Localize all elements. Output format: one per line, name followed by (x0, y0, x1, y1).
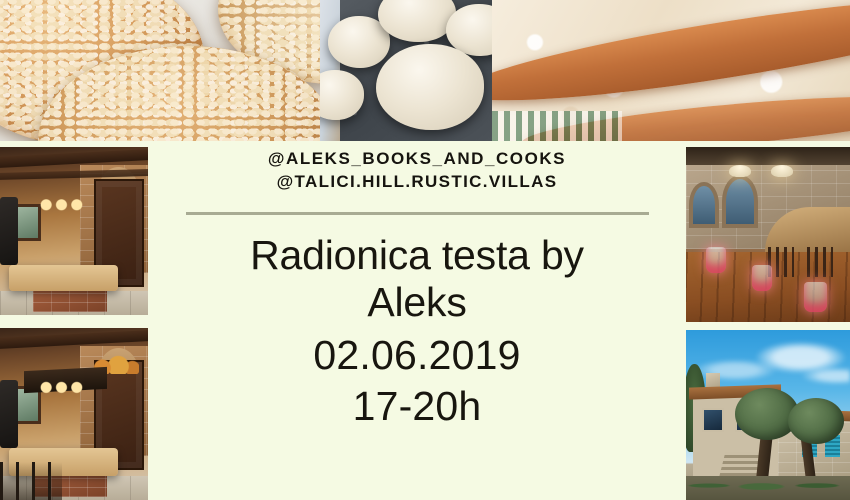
candle-jar (804, 282, 827, 312)
event-title: Radionica testa by Aleks (158, 232, 676, 327)
hedge (686, 476, 850, 500)
chair (807, 247, 833, 277)
photo-raw-dough-balls (320, 0, 492, 141)
iron-railing (0, 462, 62, 500)
pendant-lamp (771, 165, 793, 177)
event-date: 02.06.2019 (158, 331, 676, 380)
stove (0, 197, 18, 264)
dough-ball (376, 44, 484, 130)
pendant-lamps (38, 373, 88, 397)
instagram-handle-aleks: @ALEKS_BOOKS_AND_COOKS (158, 148, 676, 171)
kitchen-scene (0, 147, 148, 315)
candle-jar (752, 265, 772, 291)
photo-rustic-dining-room (686, 147, 850, 322)
instagram-handle-talici-hill: @TALICI.HILL.RUSTIC.VILLAS (158, 171, 676, 194)
event-title-line-2: Aleks (158, 279, 676, 327)
divider-rule (186, 212, 649, 215)
dining-room-scene (686, 147, 850, 322)
photo-sesame-bread-rolls (0, 0, 320, 141)
photo-stone-villa-olive-trees (686, 330, 850, 500)
event-time: 17-20h (158, 382, 676, 431)
photo-rustic-kitchen-island (0, 147, 148, 315)
kitchen-island-top (9, 265, 119, 292)
social-handles: @ALEKS_BOOKS_AND_COOKS @TALICI.HILL.RUST… (158, 148, 676, 194)
photo-sliced-bread-crumb (492, 0, 850, 141)
window (702, 408, 723, 432)
kitchen-scene (0, 328, 148, 500)
candle-jar (706, 247, 726, 273)
villa-scene (686, 330, 850, 500)
olive-tree-canopy (788, 398, 844, 444)
pendant-lamps (38, 191, 88, 215)
poster-canvas: @ALEKS_BOOKS_AND_COOKS @TALICI.HILL.RUST… (0, 0, 850, 500)
arched-window (689, 182, 719, 228)
event-title-line-1: Radionica testa by (158, 232, 676, 280)
stove (0, 380, 18, 449)
pendant-lamp (729, 165, 751, 177)
photo-rustic-kitchen-hood (0, 328, 148, 500)
event-info-panel: @ALEKS_BOOKS_AND_COOKS @TALICI.HILL.RUST… (158, 141, 676, 500)
top-photo-strip (0, 0, 850, 141)
checkered-towel (492, 111, 622, 141)
arched-window (722, 175, 758, 228)
chair (768, 247, 794, 277)
